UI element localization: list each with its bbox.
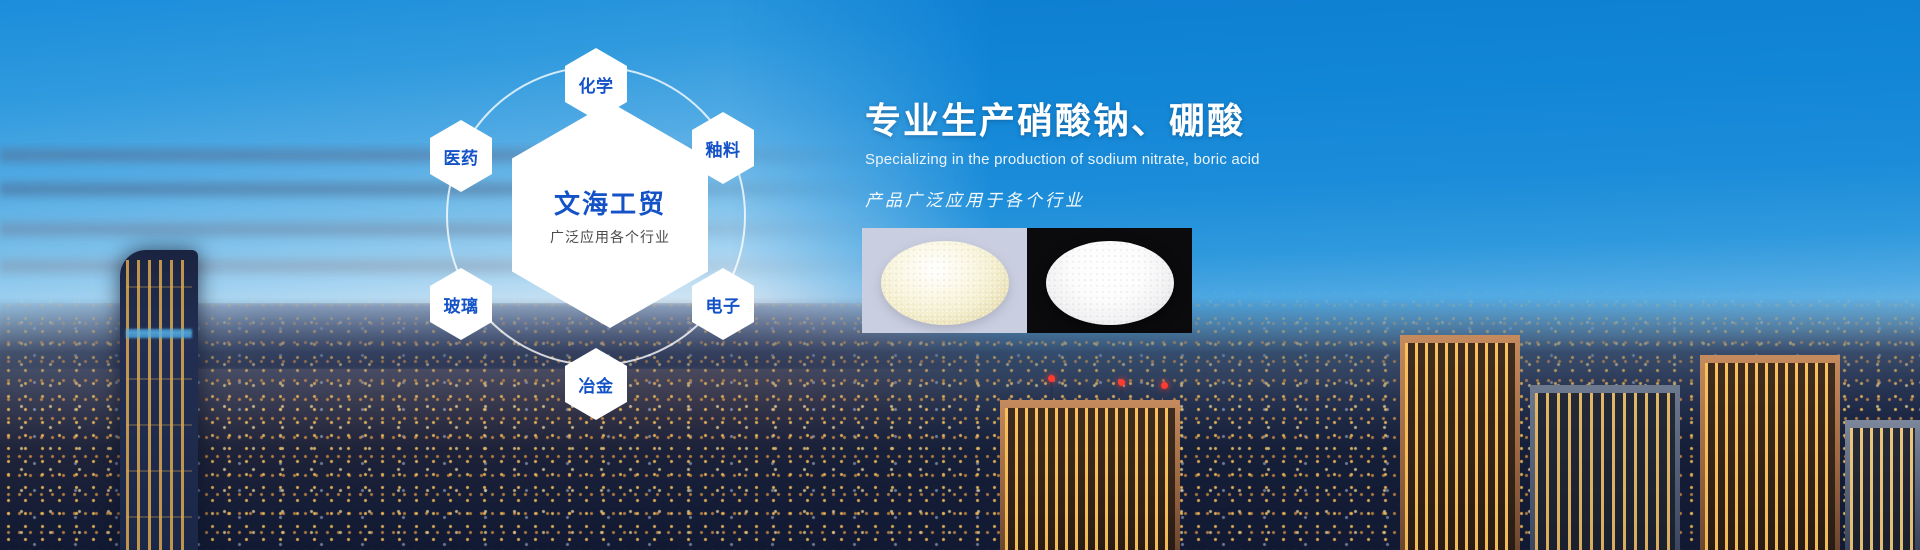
city-building-1 [1000, 400, 1180, 550]
headline: 专业生产硝酸钠、硼酸 [865, 100, 1565, 141]
product-photo-boric-acid [1027, 228, 1192, 333]
hex-node-label: 冶金 [579, 372, 614, 397]
powder-grain-texture [881, 241, 1009, 325]
city-building-5 [1845, 420, 1920, 550]
hero-skyscraper [120, 250, 198, 550]
hex-node-label: 玻璃 [444, 292, 479, 317]
product-photo-sodium-nitrate [862, 228, 1027, 333]
rooftop-beacon-2 [1120, 382, 1123, 400]
city-building-3 [1530, 385, 1680, 550]
powder-sample-white [1046, 241, 1174, 325]
headline-tagline: 产品广泛应用于各个行业 [865, 186, 1565, 211]
headline-block: 专业生产硝酸钠、硼酸 Specializing in the productio… [865, 100, 1565, 211]
rooftop-beacon-3 [1163, 385, 1166, 400]
skyscraper-light-band [126, 329, 192, 338]
powder-grain-texture [1046, 241, 1174, 325]
company-name: 文海工贸 [554, 184, 666, 221]
hex-node-label: 电子 [706, 292, 741, 317]
powder-sample-cream [881, 241, 1009, 325]
city-building-4 [1700, 355, 1840, 550]
company-tagline: 广泛应用各个行业 [550, 227, 670, 247]
promo-banner: 化学 釉料 医药 玻璃 冶金 电子 文海工贸 广泛应用各个行业 专业生产硝酸钠、… [0, 0, 1920, 550]
hex-node-label: 医药 [444, 144, 479, 169]
headline-english: Specializing in the production of sodium… [865, 151, 1565, 168]
city-building-2 [1400, 335, 1520, 550]
industry-hexagon-diagram: 化学 釉料 医药 玻璃 冶金 电子 文海工贸 广泛应用各个行业 [420, 20, 800, 440]
hex-node-label: 釉料 [706, 136, 741, 161]
rooftop-beacon-1 [1050, 378, 1053, 400]
hex-node-label: 化学 [579, 72, 614, 97]
